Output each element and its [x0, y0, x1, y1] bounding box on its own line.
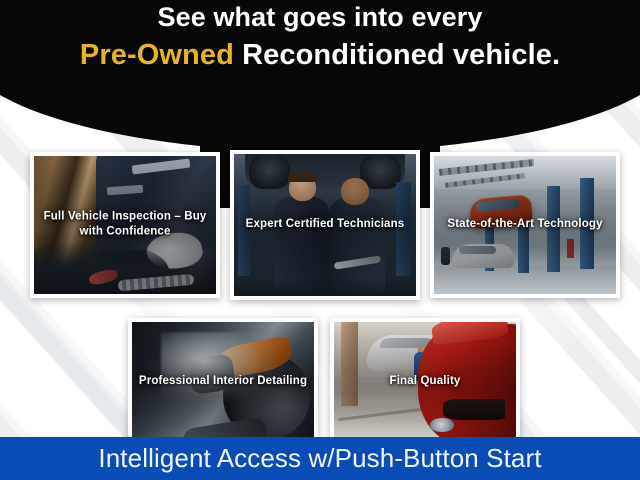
feature-banner: Intelligent Access w/Push-Button Start [0, 437, 640, 480]
card-photo-quality: Final Quality [334, 322, 516, 442]
infographic-slide: See what goes into every Pre-Owned Recon… [0, 0, 640, 480]
headline-line-2: Pre-Owned Reconditioned vehicle. [2, 36, 639, 74]
card-label-detailing: Professional Interior Detailing [132, 374, 314, 389]
card-photo-detailing: Professional Interior Detailing [132, 322, 314, 442]
card-expert-certified-technicians[interactable]: Expert Certified Technicians [230, 150, 420, 300]
card-label-technicians: Expert Certified Technicians [234, 217, 416, 232]
header-banner: See what goes into every Pre-Owned Recon… [0, 0, 640, 152]
headline-line-1: See what goes into every [2, 0, 639, 36]
card-label-technology: State-of-the-Art Technology [434, 217, 616, 232]
headline-highlight: Pre-Owned [80, 39, 234, 71]
card-label-quality: Final Quality [334, 374, 516, 389]
card-photo-technicians: Expert Certified Technicians [234, 154, 416, 296]
card-photo-technology: State-of-the-Art Technology [434, 156, 616, 294]
card-state-of-the-art-technology[interactable]: State-of-the-Art Technology [430, 152, 620, 298]
page-title: See what goes into every Pre-Owned Recon… [0, 0, 640, 74]
card-full-vehicle-inspection[interactable]: Full Vehicle Inspection – Buy with Confi… [30, 152, 220, 298]
card-photo-inspection: Full Vehicle Inspection – Buy with Confi… [34, 156, 216, 294]
card-label-inspection: Full Vehicle Inspection – Buy with Confi… [34, 209, 216, 239]
headline-line-2-rest: Reconditioned vehicle. [234, 39, 560, 71]
header-text-block: See what goes into every Pre-Owned Recon… [0, 0, 640, 74]
feature-banner-text: Intelligent Access w/Push-Button Start [98, 443, 541, 474]
card-final-quality[interactable]: Final Quality [330, 318, 520, 446]
card-professional-interior-detailing[interactable]: Professional Interior Detailing [128, 318, 318, 446]
